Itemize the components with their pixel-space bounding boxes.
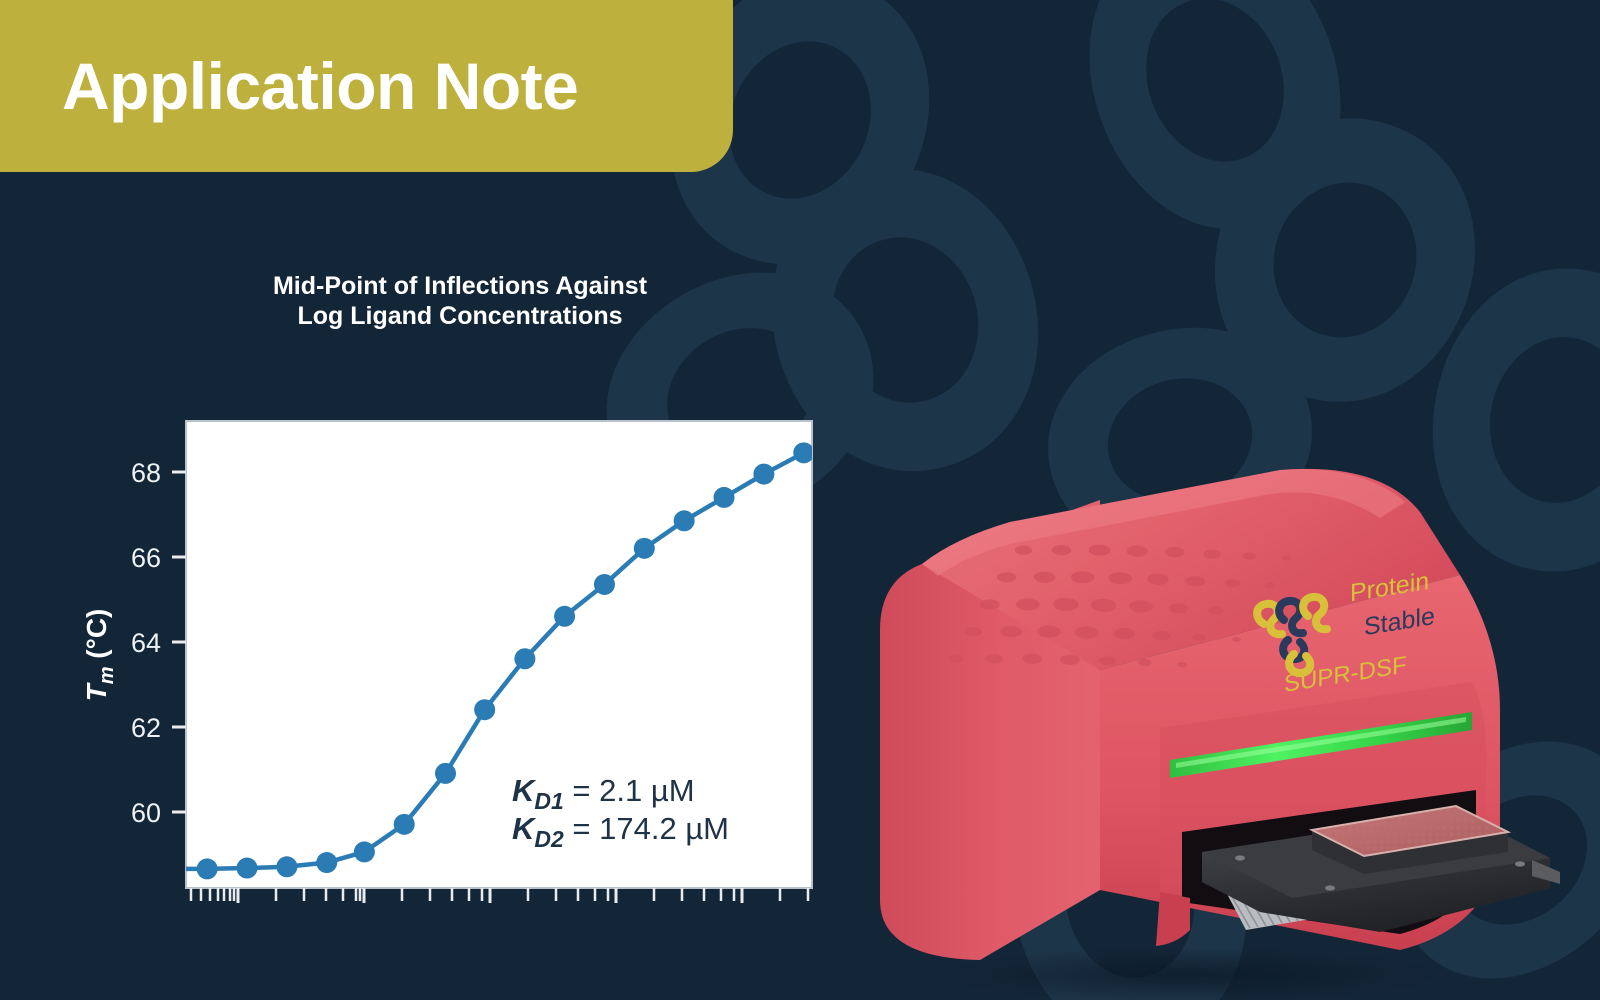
- data-point: [554, 606, 575, 627]
- chart-title-line-1: Mid-Point of Inflections Against: [110, 272, 810, 302]
- y-tick-label: 68: [131, 458, 161, 488]
- line-chart-svg: 68 66 64 62 60 Tm (°C): [60, 343, 860, 903]
- y-axis-title: Tm (°C): [81, 609, 118, 702]
- data-point: [474, 699, 495, 720]
- data-point: [197, 858, 218, 879]
- data-point: [237, 858, 258, 879]
- device-shadow: [930, 947, 1450, 1000]
- application-note-slide: Application Note Mid-Point of Inflection…: [0, 0, 1600, 1000]
- data-point: [594, 574, 615, 595]
- chart-container: Mid-Point of Inflections Against Log Lig…: [60, 272, 860, 912]
- data-point: [276, 856, 297, 877]
- data-point: [753, 464, 774, 485]
- data-point: [793, 442, 814, 463]
- y-axis-tick-labels: 68 66 64 62 60: [131, 458, 161, 828]
- data-point: [634, 538, 655, 559]
- data-point: [714, 487, 735, 508]
- data-point: [354, 841, 375, 862]
- data-point: [674, 510, 695, 531]
- data-point: [435, 763, 456, 784]
- application-note-banner: Application Note: [0, 0, 733, 172]
- x-axis-major-ticks: [238, 888, 742, 903]
- data-point: [316, 852, 337, 873]
- device-front-bottom-edge: [1156, 892, 1190, 946]
- y-tick-label: 62: [131, 713, 161, 743]
- plot-area: 68 66 64 62 60 Tm (°C): [60, 343, 860, 903]
- y-axis: [172, 472, 186, 812]
- data-point: [394, 814, 415, 835]
- y-tick-label: 60: [131, 798, 161, 828]
- banner-title: Application Note: [62, 53, 578, 119]
- supr-dsf-instrument: Protein Stable SUPR-DSF: [860, 460, 1600, 1000]
- y-tick-label: 66: [131, 543, 161, 573]
- svg-text:Tm (°C): Tm (°C): [81, 609, 118, 702]
- chart-title: Mid-Point of Inflections Against Log Lig…: [110, 272, 810, 331]
- data-point: [514, 648, 535, 669]
- x-axis-minor-ticks: [191, 888, 808, 901]
- y-tick-label: 64: [131, 628, 161, 658]
- chart-title-line-2: Log Ligand Concentrations: [110, 302, 810, 332]
